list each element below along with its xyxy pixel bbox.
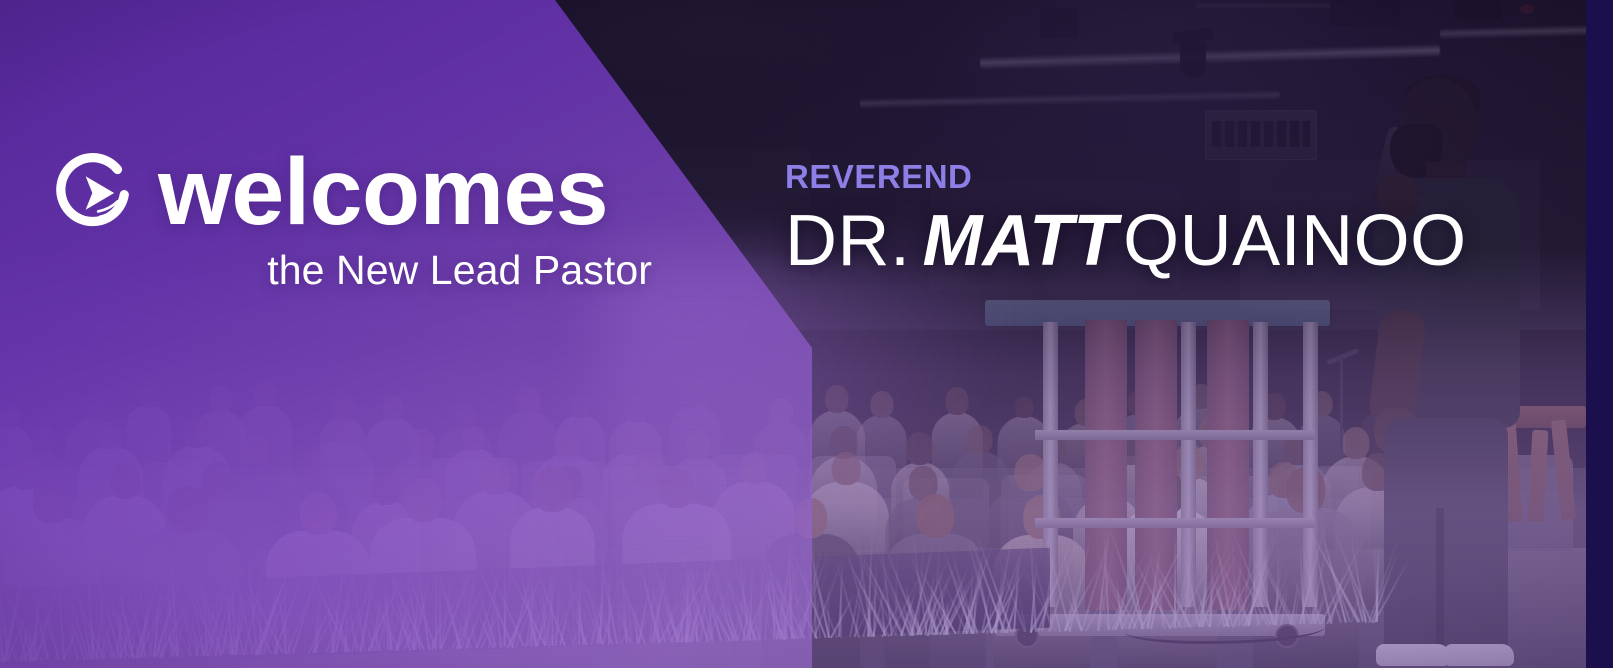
eyebrow-reverend: REVEREND — [785, 160, 1467, 193]
welcome-banner: welcomes the New Lead Pastor REVEREND DR… — [0, 0, 1613, 668]
vignette-overlay — [0, 0, 1613, 668]
subtitle-new-lead-pastor: the New Lead Pastor — [267, 247, 652, 294]
logo-and-headline-row: welcomes — [52, 148, 652, 237]
left-text-block: welcomes the New Lead Pastor — [52, 148, 652, 294]
right-edge-navy-bar — [1586, 0, 1613, 668]
name-last: QUAINOO — [1123, 201, 1467, 281]
circle-play-logo-icon — [52, 151, 136, 235]
pastor-name-line: DR.MATTQUAINOO — [785, 205, 1467, 277]
background-photo — [0, 0, 1613, 668]
right-text-block: REVEREND DR.MATTQUAINOO — [785, 160, 1467, 277]
name-first: MATT — [911, 201, 1124, 281]
headline-welcomes: welcomes — [158, 148, 608, 237]
name-prefix: DR. — [785, 201, 911, 281]
